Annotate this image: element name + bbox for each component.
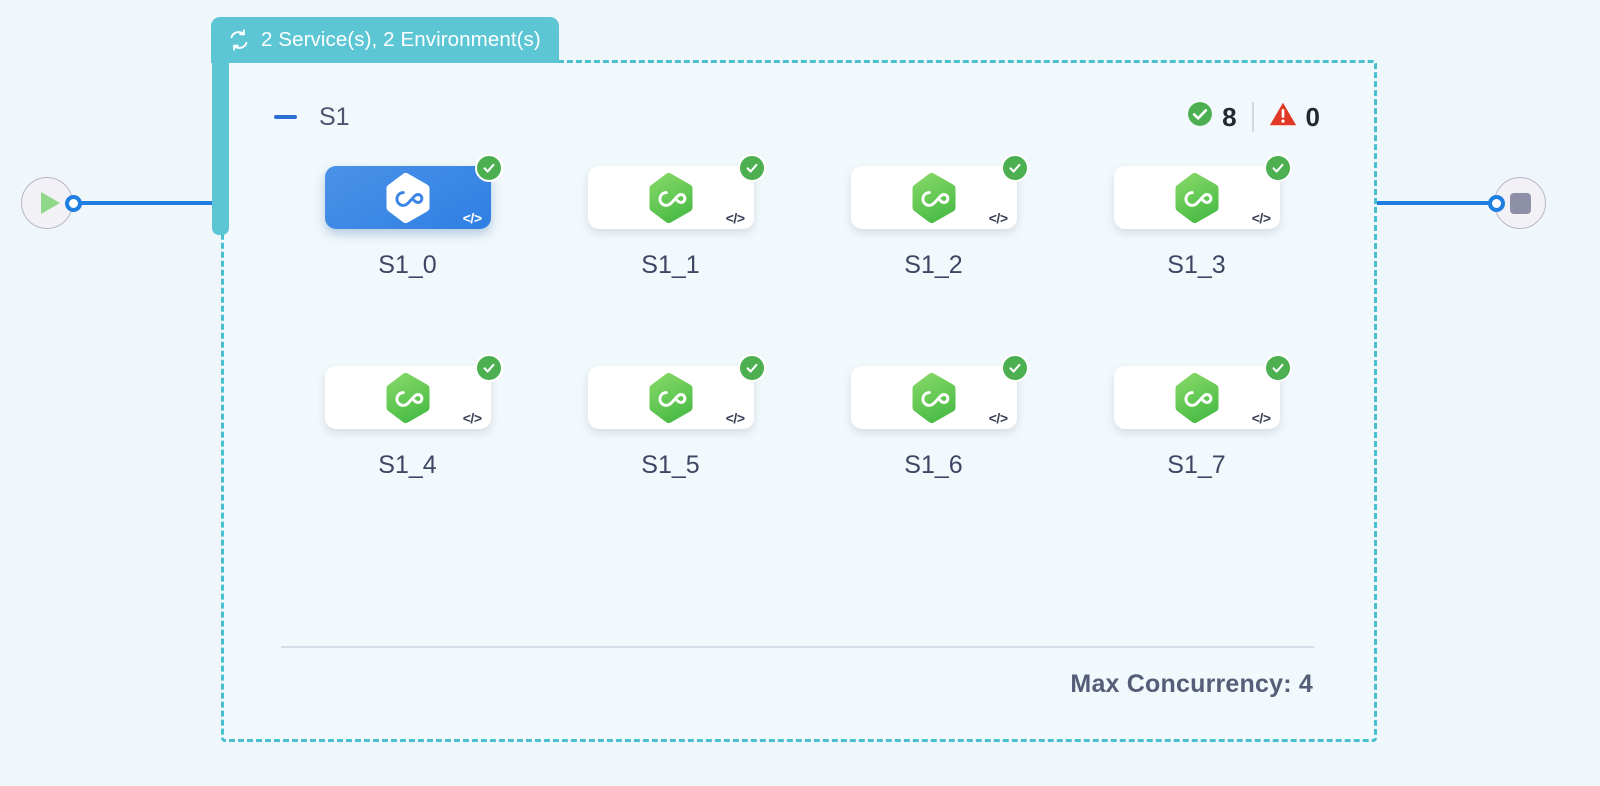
end-node-input-handle[interactable] — [1488, 195, 1505, 212]
code-icon[interactable]: </> — [726, 411, 745, 425]
hexagon-infinity-icon — [384, 372, 432, 424]
check-circle-icon — [1264, 154, 1292, 182]
code-icon[interactable]: </> — [726, 211, 745, 225]
service-node-card[interactable]: </> — [851, 366, 1017, 429]
code-icon[interactable]: </> — [989, 211, 1008, 225]
code-icon[interactable]: </> — [463, 211, 482, 225]
node-grid: </>S1_0</>S1_1</>S1_2</>S1_3</>S1_4</>S1… — [276, 166, 1328, 480]
service-node-card[interactable]: </> — [325, 366, 491, 429]
group-header: S1 8 — [224, 95, 1374, 139]
start-node-output-handle[interactable] — [65, 195, 82, 212]
hexagon-infinity-icon — [1173, 172, 1221, 224]
warning-stat: 0 — [1269, 101, 1320, 134]
service-node-card[interactable]: </> — [1114, 166, 1280, 229]
code-icon[interactable]: </> — [463, 411, 482, 425]
max-concurrency-label: Max Concurrency: 4 — [1070, 670, 1313, 699]
check-circle-icon — [475, 354, 503, 382]
group-left-rail — [212, 55, 229, 235]
check-circle-icon — [1187, 101, 1213, 134]
edge-start-to-group[interactable] — [75, 201, 225, 205]
node-label: S1_6 — [904, 451, 962, 480]
play-icon — [41, 192, 60, 214]
service-node-card[interactable]: </> — [588, 366, 754, 429]
check-circle-icon — [1001, 354, 1029, 382]
node-label: S1_7 — [1167, 451, 1225, 480]
node-cell: </>S1_5 — [539, 366, 802, 480]
node-label: S1_5 — [641, 451, 699, 480]
check-circle-icon — [475, 154, 503, 182]
group-footer-divider — [281, 646, 1314, 648]
group-badge-label: 2 Service(s), 2 Environment(s) — [261, 28, 541, 52]
node-cell: </>S1_2 — [802, 166, 1065, 280]
group-badge[interactable]: 2 Service(s), 2 Environment(s) — [211, 17, 559, 63]
hexagon-infinity-icon — [647, 372, 695, 424]
node-cell: </>S1_1 — [539, 166, 802, 280]
service-group-container[interactable]: S1 8 — [221, 60, 1377, 742]
group-title: S1 — [319, 103, 350, 132]
hexagon-infinity-icon — [647, 172, 695, 224]
service-node-card[interactable]: </> — [1114, 366, 1280, 429]
check-circle-icon — [738, 154, 766, 182]
node-cell: </>S1_6 — [802, 366, 1065, 480]
group-status-cluster: 8 0 — [1187, 101, 1320, 134]
warning-count: 0 — [1306, 102, 1320, 133]
check-circle-icon — [1264, 354, 1292, 382]
node-label: S1_2 — [904, 251, 962, 280]
node-cell: </>S1_0 — [276, 166, 539, 280]
check-circle-icon — [1001, 154, 1029, 182]
service-node-card[interactable]: </> — [588, 166, 754, 229]
node-label: S1_1 — [641, 251, 699, 280]
node-cell: </>S1_4 — [276, 366, 539, 480]
hexagon-infinity-icon — [384, 172, 432, 224]
code-icon[interactable]: </> — [989, 411, 1008, 425]
loop-icon — [227, 28, 251, 52]
node-cell: </>S1_3 — [1065, 166, 1328, 280]
code-icon[interactable]: </> — [1252, 211, 1271, 225]
node-label: S1_3 — [1167, 251, 1225, 280]
workflow-canvas[interactable]: 2 Service(s), 2 Environment(s) S1 8 — [0, 0, 1600, 786]
status-divider — [1252, 102, 1254, 132]
service-node-card[interactable]: </> — [325, 166, 491, 229]
node-cell: </>S1_7 — [1065, 366, 1328, 480]
stop-icon — [1510, 193, 1531, 214]
hexagon-infinity-icon — [910, 172, 958, 224]
code-icon[interactable]: </> — [1252, 411, 1271, 425]
check-circle-icon — [738, 354, 766, 382]
service-node-card[interactable]: </> — [851, 166, 1017, 229]
node-label: S1_4 — [378, 451, 436, 480]
success-count: 8 — [1222, 102, 1236, 133]
hexagon-infinity-icon — [910, 372, 958, 424]
success-stat: 8 — [1187, 101, 1236, 134]
hexagon-infinity-icon — [1173, 372, 1221, 424]
collapse-group-toggle[interactable] — [274, 115, 297, 119]
warning-triangle-icon — [1269, 101, 1297, 134]
node-label: S1_0 — [378, 251, 436, 280]
